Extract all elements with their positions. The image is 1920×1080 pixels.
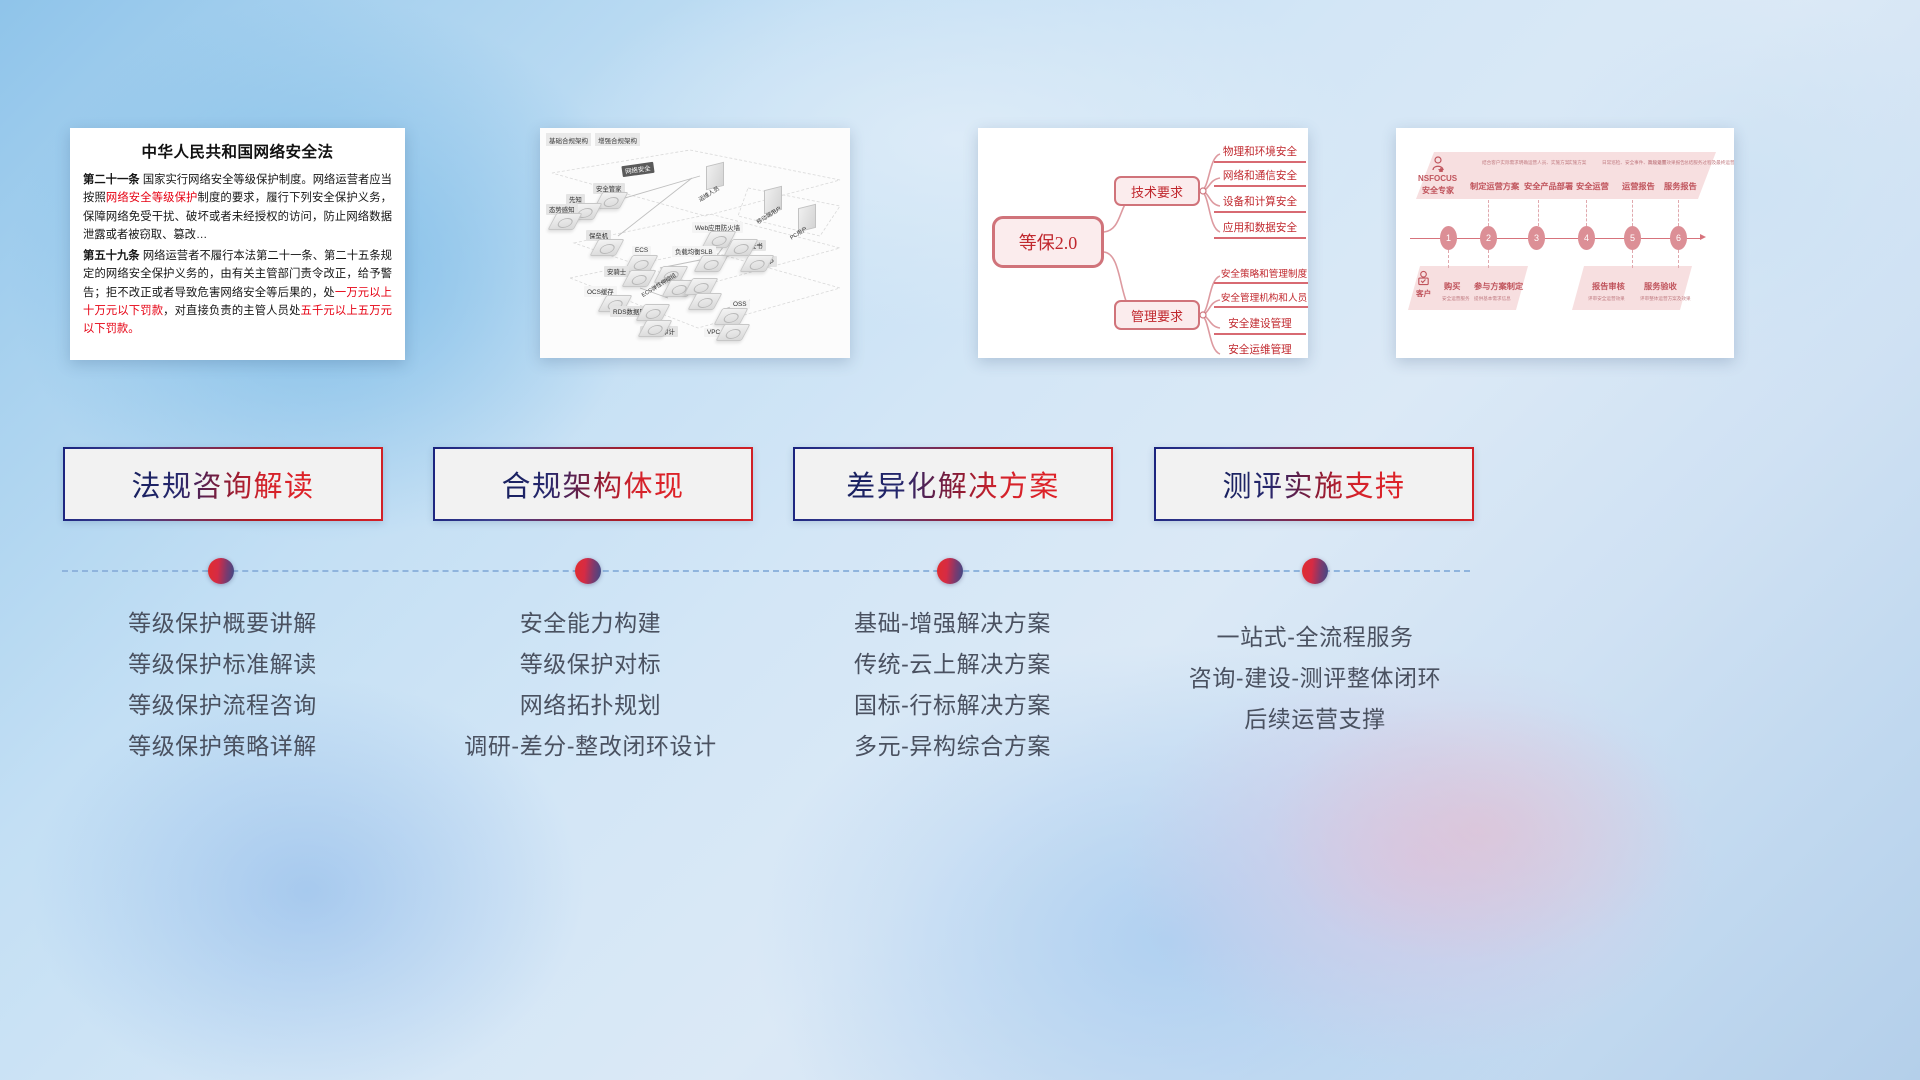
arch-node-ecs: ECS — [632, 246, 651, 255]
card-mindmap-dengbao[interactable]: 等保2.0 技术要求 管理要求 物理和环境安全 网络和通信安全 设备和计算安全 … — [978, 128, 1308, 358]
timeline-dashed-line — [62, 570, 1470, 572]
mindmap-leaf-app-data: 应用和数据安全 — [1214, 220, 1306, 239]
section-header-label-4: 测评实施支持 — [1222, 463, 1405, 505]
list-item: 多元-异构综合方案 — [775, 726, 1130, 767]
list-item: 等级保护策略详解 — [45, 726, 400, 767]
nsfocus-bottom-label-2: 参与方案制定 — [1474, 280, 1523, 292]
mindmap-branch-technical: 技术要求 — [1114, 176, 1200, 206]
section-headers-row: 法规咨询解读 合规架构体现 差异化解决方案 测评实施支持 — [0, 447, 1920, 521]
mindmap-leaf-ops-mgmt: 安全运维管理 — [1214, 342, 1306, 358]
section-header-label-3: 差异化解决方案 — [846, 463, 1060, 505]
section-header-label-1: 法规咨询解读 — [131, 463, 314, 505]
list-item: 传统-云上解决方案 — [775, 644, 1130, 685]
nsfocus-bottom-note-4: 评审整体运营方案及效果 — [1640, 296, 1691, 302]
nsfocus-customer-role: 客户 — [1416, 288, 1431, 299]
nsfocus-top-note-2: 实施方案 — [1568, 160, 1586, 166]
section-items-4: 一站式-全流程服务 咨询-建设-测评整体闭环 后续运营支撑 — [1135, 617, 1495, 740]
list-item: 安全能力构建 — [413, 603, 768, 644]
nsfocus-top-label-2: 安全产品部署 — [1524, 180, 1573, 192]
list-item: 等级保护标准解读 — [45, 644, 400, 685]
list-item: 网络拓扑规划 — [413, 685, 768, 726]
list-item: 调研-差分-整改闭环设计 — [413, 726, 768, 767]
card-cloud-architecture[interactable]: 基础合规架构 增强合规架构 — [540, 128, 850, 358]
section-header-assessment-support[interactable]: 测评实施支持 — [1154, 447, 1474, 521]
nsfocus-step-3: 3 — [1528, 226, 1545, 250]
law-article-59: 第五十九条 网络运营者不履行本法第二十一条、第二十五条规定的网络安全保护义务的，… — [83, 247, 392, 338]
arch-node-anqishi: 安骑士 — [604, 266, 629, 277]
timeline — [0, 558, 1920, 584]
nsfocus-top-label-1: 制定运营方案 — [1470, 180, 1519, 192]
timeline-dot-3[interactable] — [937, 558, 963, 584]
card-cybersecurity-law[interactable]: 中华人民共和国网络安全法 第二十一条 国家实行网络安全等级保护制度。网络运营者应… — [70, 128, 405, 360]
list-item: 基础-增强解决方案 — [775, 603, 1130, 644]
law-article-59-text2: ，对直接负责的主管人员处 — [163, 305, 300, 317]
mindmap-leaf-policy-system: 安全策略和管理制度 — [1214, 266, 1308, 284]
architecture-connectors — [540, 128, 850, 358]
section-header-label-2: 合规架构体现 — [501, 463, 684, 505]
list-item: 一站式-全流程服务 — [1135, 617, 1495, 658]
nsfocus-bottom-note-1: 安全运营服务 — [1442, 296, 1470, 302]
section-items-1: 等级保护概要讲解 等级保护标准解读 等级保护流程咨询 等级保护策略详解 — [45, 603, 400, 767]
list-item: 等级保护流程咨询 — [45, 685, 400, 726]
law-title: 中华人民共和国网络安全法 — [83, 140, 392, 162]
nsfocus-bottom-note-2: 提供基本需求信息 — [1474, 296, 1511, 302]
nsfocus-step-6: 6 — [1670, 226, 1687, 250]
mindmap-leaf-network-comm: 网络和通信安全 — [1214, 168, 1306, 187]
list-item: 咨询-建设-测评整体闭环 — [1135, 658, 1495, 699]
security-expert-icon — [1430, 156, 1446, 172]
nsfocus-step-5: 5 — [1624, 226, 1641, 250]
nsfocus-top-label-3: 安全运营 — [1576, 180, 1609, 192]
law-article-21: 第二十一条 国家实行网络安全等级保护制度。网络运营者应当按照网络安全等级保护制度… — [83, 171, 392, 244]
nsfocus-step-2: 2 — [1480, 226, 1497, 250]
section-header-regulation-consulting[interactable]: 法规咨询解读 — [63, 447, 383, 521]
nsfocus-axis-arrow — [1700, 234, 1706, 240]
list-item: 国标-行标解决方案 — [775, 685, 1130, 726]
nsfocus-bottom-label-4: 服务验收 — [1644, 280, 1677, 292]
mindmap-leaf-construction-mgmt: 安全建设管理 — [1214, 316, 1306, 335]
mindmap-leaf-physical-env: 物理和环境安全 — [1214, 144, 1306, 163]
timeline-dot-2[interactable] — [575, 558, 601, 584]
section-items-2: 安全能力构建 等级保护对标 网络拓扑规划 调研-差分-整改闭环设计 — [413, 603, 768, 767]
nsfocus-role: 安全专家 — [1422, 185, 1454, 196]
law-article-59-label: 第五十九条 — [83, 250, 140, 262]
section-header-differentiated-solution[interactable]: 差异化解决方案 — [793, 447, 1113, 521]
nsfocus-step-1: 1 — [1440, 226, 1457, 250]
card-nsfocus-service-flow[interactable]: NSFOCUS 安全专家 客户 结合客户实际需求明确运营人员、实施方案 实施方案… — [1396, 128, 1734, 358]
law-article-21-highlight: 网络安全等级保护 — [106, 192, 198, 204]
section-items-3: 基础-增强解决方案 传统-云上解决方案 国标-行标解决方案 多元-异构综合方案 — [775, 603, 1130, 767]
customer-icon — [1416, 270, 1431, 286]
nsfocus-bottom-label-3: 报告审核 — [1592, 280, 1625, 292]
list-item: 后续运营支撑 — [1135, 699, 1495, 740]
nsfocus-top-label-5: 服务报告 — [1664, 180, 1697, 192]
nsfocus-step-4: 4 — [1578, 226, 1595, 250]
nsfocus-brand: NSFOCUS — [1418, 174, 1457, 183]
nsfocus-bottom-note-3: 评审安全运营效果 — [1588, 296, 1625, 302]
timeline-dot-4[interactable] — [1302, 558, 1328, 584]
mindmap-leaf-device-compute: 设备和计算安全 — [1214, 194, 1306, 213]
law-article-21-label: 第二十一条 — [83, 174, 140, 186]
timeline-dot-1[interactable] — [208, 558, 234, 584]
list-item: 等级保护概要讲解 — [45, 603, 400, 644]
mindmap-branch-management: 管理要求 — [1114, 300, 1200, 330]
nsfocus-top-label-4: 运营报告 — [1622, 180, 1655, 192]
list-item: 等级保护对标 — [413, 644, 768, 685]
mindmap-leaf-org-personnel: 安全管理机构和人员 — [1214, 290, 1308, 308]
preview-cards-row: 中华人民共和国网络安全法 第二十一条 国家实行网络安全等级保护制度。网络运营者应… — [0, 128, 1920, 360]
nsfocus-bottom-label-1: 购买 — [1444, 280, 1460, 292]
nsfocus-top-note-4: 阶段运营效果报告 — [1648, 160, 1685, 166]
section-header-compliance-architecture[interactable]: 合规架构体现 — [433, 447, 753, 521]
nsfocus-top-note-1: 结合客户实际需求明确运营人员、实施方案 — [1482, 160, 1569, 166]
nsfocus-top-note-5: 总结服务过程及最终运营效果 — [1684, 160, 1734, 166]
mindmap-root: 等保2.0 — [992, 216, 1104, 268]
